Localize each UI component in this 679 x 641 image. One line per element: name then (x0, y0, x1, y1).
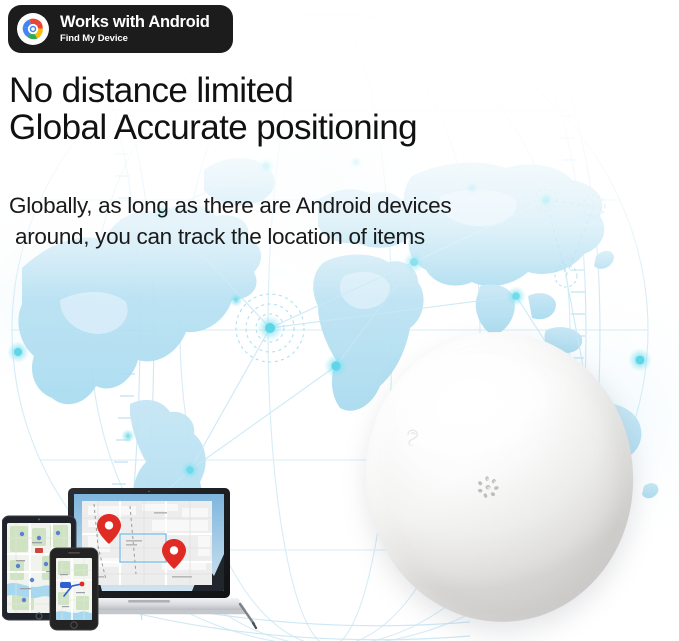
phone-device (50, 548, 98, 630)
badge-subtitle: Find My Device (60, 34, 210, 44)
headline-line-2: Global Accurate positioning (9, 109, 417, 146)
google-find-my-device-pinwheel-icon (17, 13, 49, 45)
embossed-logo-mark-icon (400, 423, 429, 452)
works-with-android-badge: Works with Android Find My Device (8, 5, 233, 53)
subcopy: Globally, as long as there are Android d… (9, 190, 451, 252)
devices-cluster (2, 476, 264, 641)
product-marketing-banner: Works with Android Find My Device No dis… (0, 0, 679, 641)
speaker-grille-icon (470, 468, 507, 505)
badge-title: Works with Android (60, 13, 210, 31)
headline: No distance limited Global Accurate posi… (9, 72, 417, 146)
subcopy-line-1: Globally, as long as there are Android d… (9, 190, 451, 221)
subcopy-line-2: around, you can track the location of it… (9, 221, 451, 252)
badge-text-block: Works with Android Find My Device (60, 14, 210, 44)
headline-line-1: No distance limited (9, 72, 417, 109)
bluetooth-item-tracker (352, 319, 648, 635)
